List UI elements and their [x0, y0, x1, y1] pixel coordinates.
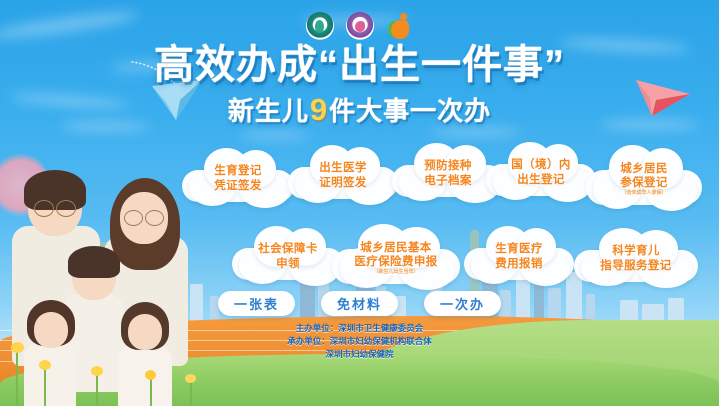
- service-bubble[interactable]: 生育医疗 费用报销: [464, 226, 574, 288]
- service-bubble-label: 生育医疗 费用报销: [495, 242, 543, 270]
- subtitle-number: 9: [309, 92, 329, 127]
- service-bubble-label: 科学育儿 指导服务登记: [600, 244, 671, 272]
- feature-tag[interactable]: 一张表: [218, 291, 295, 316]
- service-bubble-label: 城乡居民基本 医疗保险费申报: [354, 241, 437, 269]
- child-care-mark-icon: [386, 12, 414, 40]
- service-bubble[interactable]: 科学育儿 指导服务登记: [574, 228, 698, 290]
- service-bubble-label: 生育登记 凭证签发: [214, 164, 262, 192]
- service-bubble-label: 国（境）内 出生登记: [511, 158, 571, 186]
- subtitle-prefix: 新生儿: [228, 96, 309, 126]
- service-bubble-sublabel: （新生儿出生当年）: [373, 270, 418, 276]
- feature-tag[interactable]: 一次办: [424, 291, 501, 316]
- service-bubble[interactable]: 出生医学 证明签发: [288, 145, 398, 207]
- page-subtitle: 新生儿9件大事一次办: [0, 91, 719, 128]
- service-bubble[interactable]: 国（境）内 出生登记: [486, 142, 596, 204]
- health-commission-emblem-icon: [306, 12, 334, 40]
- cloud-wisp: [430, 128, 520, 136]
- service-bubble-label: 城乡居民 参保登记: [620, 162, 668, 190]
- service-bubble-sublabel: （含未成年人参保）: [621, 191, 666, 197]
- cloud-wisp: [240, 132, 310, 139]
- poster-canvas: 高效办成“出生一件事” 新生儿9件大事一次办: [0, 0, 719, 406]
- service-bubble-label: 社会保障卡 申领: [258, 242, 318, 270]
- service-bubble[interactable]: 社会保障卡 申领: [232, 226, 344, 288]
- maternal-child-health-emblem-icon: [346, 12, 374, 40]
- subtitle-suffix: 件大事一次办: [329, 96, 491, 126]
- headline-block: 高效办成“出生一件事” 新生儿9件大事一次办: [0, 44, 719, 128]
- service-bubble[interactable]: 城乡居民基本 医疗保险费申报 （新生儿出生当年）: [332, 224, 460, 292]
- family-illustration: [0, 136, 215, 406]
- logo-row: [0, 12, 719, 40]
- page-title: 高效办成“出生一件事”: [0, 44, 719, 86]
- service-bubble-label: 出生医学 证明签发: [319, 161, 367, 189]
- service-bubble[interactable]: 城乡居民 参保登记 （含未成年人参保）: [586, 145, 702, 213]
- service-bubble-label: 预防接种 电子档案: [424, 159, 472, 187]
- feature-tag[interactable]: 免材料: [321, 291, 398, 316]
